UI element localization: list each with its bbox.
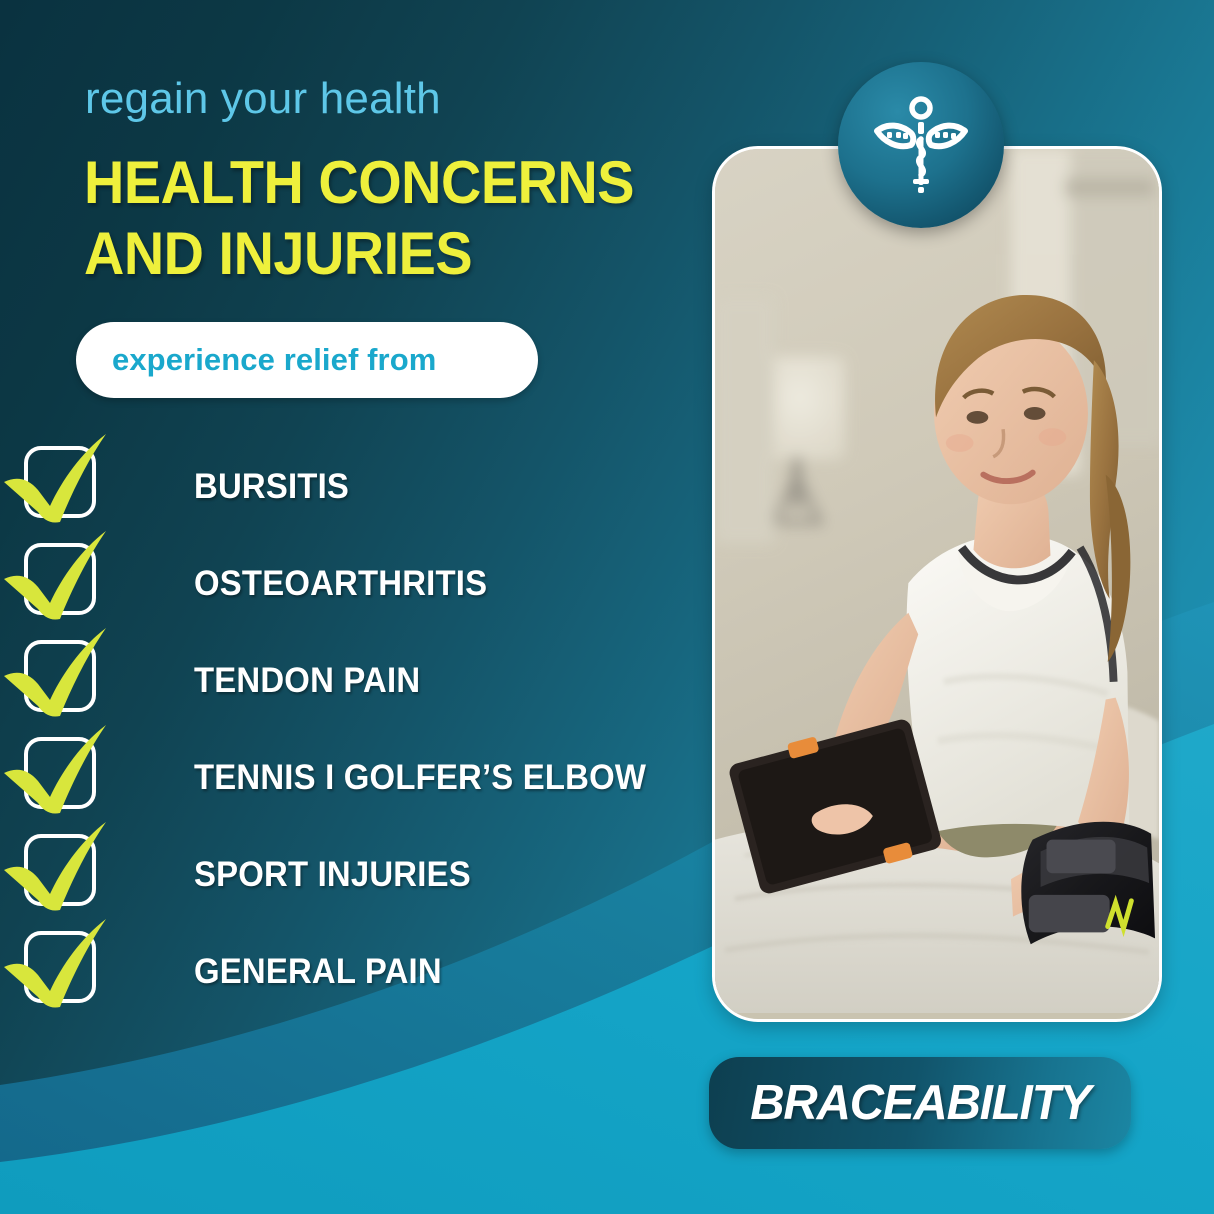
- list-item-label: SPORT INJURIES: [194, 855, 471, 895]
- brand-logo: BRACEABILITY: [709, 1057, 1131, 1149]
- headline-line-2: AND INJURIES: [84, 219, 642, 290]
- list-item: TENNIS I GOLFER’S ELBOW: [0, 729, 700, 826]
- headline-line-1: HEALTH CONCERNS: [84, 148, 642, 219]
- list-item: TENDON PAIN: [0, 632, 700, 729]
- left-content-column: regain your health HEALTH CONCERNS AND I…: [0, 0, 700, 1214]
- promo-poster: regain your health HEALTH CONCERNS AND I…: [0, 0, 1214, 1214]
- conditions-checklist: BURSITIS OSTEOARTHRITIS TE: [0, 438, 700, 1020]
- list-item-label: TENDON PAIN: [194, 661, 420, 701]
- list-item-label: BURSITIS: [194, 467, 349, 507]
- checkmark-icon: [2, 820, 120, 916]
- caduceus-icon: [869, 93, 973, 197]
- eyebrow-text: regain your health: [85, 76, 441, 122]
- checkbox-wrapper: [0, 535, 104, 632]
- list-item: BURSITIS: [0, 438, 700, 535]
- list-item-label: OSTEOARTHRITIS: [194, 564, 487, 604]
- checkmark-icon: [2, 917, 120, 1013]
- brand-logo-text: BRACEABILITY: [750, 1075, 1090, 1131]
- checkmark-icon: [2, 723, 120, 819]
- checkbox-wrapper: [0, 826, 104, 923]
- checkmark-icon: [2, 626, 120, 722]
- pill-label: experience relief from: [112, 342, 436, 378]
- checkmark-icon: [2, 529, 120, 625]
- list-item-label: GENERAL PAIN: [194, 952, 442, 992]
- product-photo: [715, 149, 1159, 1013]
- list-item-label: TENNIS I GOLFER’S ELBOW: [194, 758, 646, 798]
- product-photo-card: [712, 146, 1162, 1022]
- list-item: OSTEOARTHRITIS: [0, 535, 700, 632]
- checkbox-wrapper: [0, 923, 104, 1020]
- checkbox-wrapper: [0, 632, 104, 729]
- checkbox-wrapper: [0, 438, 104, 535]
- list-item: GENERAL PAIN: [0, 923, 700, 1020]
- page-title: HEALTH CONCERNS AND INJURIES: [84, 148, 642, 290]
- list-item: SPORT INJURIES: [0, 826, 700, 923]
- caduceus-badge: [838, 62, 1004, 228]
- experience-relief-pill: experience relief from: [76, 322, 538, 398]
- checkbox-wrapper: [0, 729, 104, 826]
- checkmark-icon: [2, 432, 120, 528]
